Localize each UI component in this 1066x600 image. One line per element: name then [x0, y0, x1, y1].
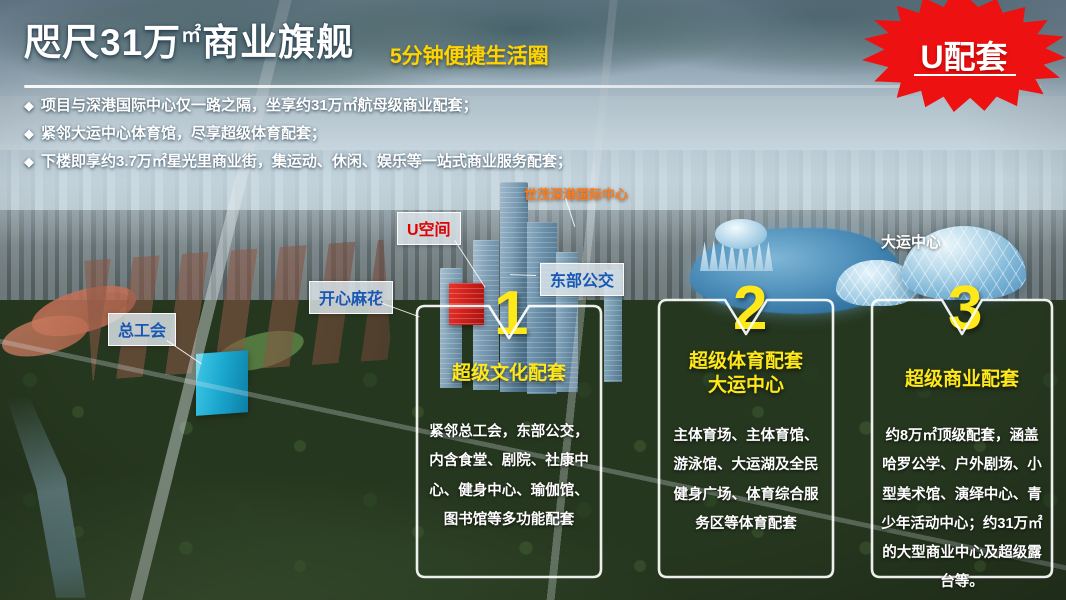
list-item: ◆ 下楼即享约3.7万㎡星光里商业街，集运动、休闲、娱乐等一站式商业服务配套； [24, 154, 684, 169]
panel-subtitle-line: 大运中心 [653, 374, 839, 398]
map-callout-label: 开心麻花 [319, 291, 383, 308]
info-panel-culture[interactable]: 超级文化配套 紧邻总工会，东部公交，内含食堂、剧院、社康中心、健身中心、瑜伽馆、… [411, 300, 607, 583]
map-callout-label: U空间 [407, 222, 451, 239]
panel-title: 超级文化配套 [411, 362, 607, 386]
diamond-bullet-icon: ◆ [24, 99, 34, 112]
panel-body-text: 约8万㎡顶级配套，涵盖哈罗公学、户外剧场、小型美术馆、演绎中心、青少年活动中心；… [881, 428, 1042, 590]
list-item: ◆ 紧邻大运中心体育馆，尽享超级体育配套； [24, 126, 684, 141]
map-callout-kaixinmahua[interactable]: 开心麻花 [309, 281, 393, 314]
page-subtitle: 5分钟便捷生活圈 [390, 40, 549, 70]
status-badge: U配套 [862, 0, 1066, 112]
panel-body: 紧邻总工会，东部公交，内含食堂、剧院、社康中心、健身中心、瑜伽馆、图书馆等多功能… [425, 418, 593, 535]
map-callout-label: 总工会 [118, 323, 166, 340]
page-title-tail: 商业旗舰 [202, 22, 354, 63]
list-item-label: 紧邻大运中心体育馆，尽享超级体育配套； [41, 126, 326, 141]
map-label-dayun-center: 大运中心 [881, 231, 941, 252]
list-item: ◆ 项目与深港国际中心仅一路之隔，坐享约31万㎡航母级商业配套； [24, 98, 684, 113]
map-callout-dongbu-bus[interactable]: 东部公交 [540, 263, 624, 296]
map-callout-label: 东部公交 [550, 273, 614, 290]
diamond-bullet-icon: ◆ [24, 155, 34, 168]
list-item-label: 下楼即享约3.7万㎡星光里商业街，集运动、休闲、娱乐等一站式商业服务配套； [41, 154, 572, 169]
badge-underline [914, 74, 1016, 76]
diamond-bullet-icon: ◆ [24, 127, 34, 140]
panel-title-line: 超级商业配套 [866, 368, 1058, 392]
panel-body: 约8万㎡顶级配套，涵盖哈罗公学、户外剧场、小型美术馆、演绎中心、青少年活动中心；… [880, 422, 1044, 598]
list-item-label: 项目与深港国际中心仅一路之隔，坐享约31万㎡航母级商业配套； [41, 98, 478, 113]
panel-title: 超级商业配套 [866, 368, 1058, 392]
info-panel-sports[interactable]: 超级体育配套 大运中心 主体育场、主体育馆、游泳馆、大运湖及全民健身广场、体育综… [653, 294, 839, 583]
feature-bullet-list: ◆ 项目与深港国际中心仅一路之隔，坐享约31万㎡航母级商业配套； ◆ 紧邻大运中… [24, 98, 684, 182]
page-title-main: 咫尺31万 [24, 22, 181, 63]
status-badge-label: U配套 [862, 32, 1066, 78]
info-panel-commercial[interactable]: 超级商业配套 约8万㎡顶级配套，涵盖哈罗公学、户外剧场、小型美术馆、演绎中心、青… [866, 294, 1058, 583]
poster-root: 咫尺31万㎡商业旗舰 5分钟便捷生活圈 ◆ 项目与深港国际中心仅一路之隔，坐享约… [0, 0, 1066, 600]
map-callout-u-space[interactable]: U空间 [397, 212, 461, 245]
panel-title: 超级体育配套 大运中心 [653, 350, 839, 399]
panel-title-line: 超级体育配套 [653, 350, 839, 374]
page-title-unit: ㎡ [181, 25, 202, 47]
page-title: 咫尺31万㎡商业旗舰 [24, 24, 354, 63]
panel-body: 主体育场、主体育馆、游泳馆、大运湖及全民健身广场、体育综合服务区等体育配套 [667, 422, 825, 539]
panel-title-line: 超级文化配套 [411, 362, 607, 386]
map-label-shimao-center: 世茂深港国际中心 [524, 184, 628, 203]
